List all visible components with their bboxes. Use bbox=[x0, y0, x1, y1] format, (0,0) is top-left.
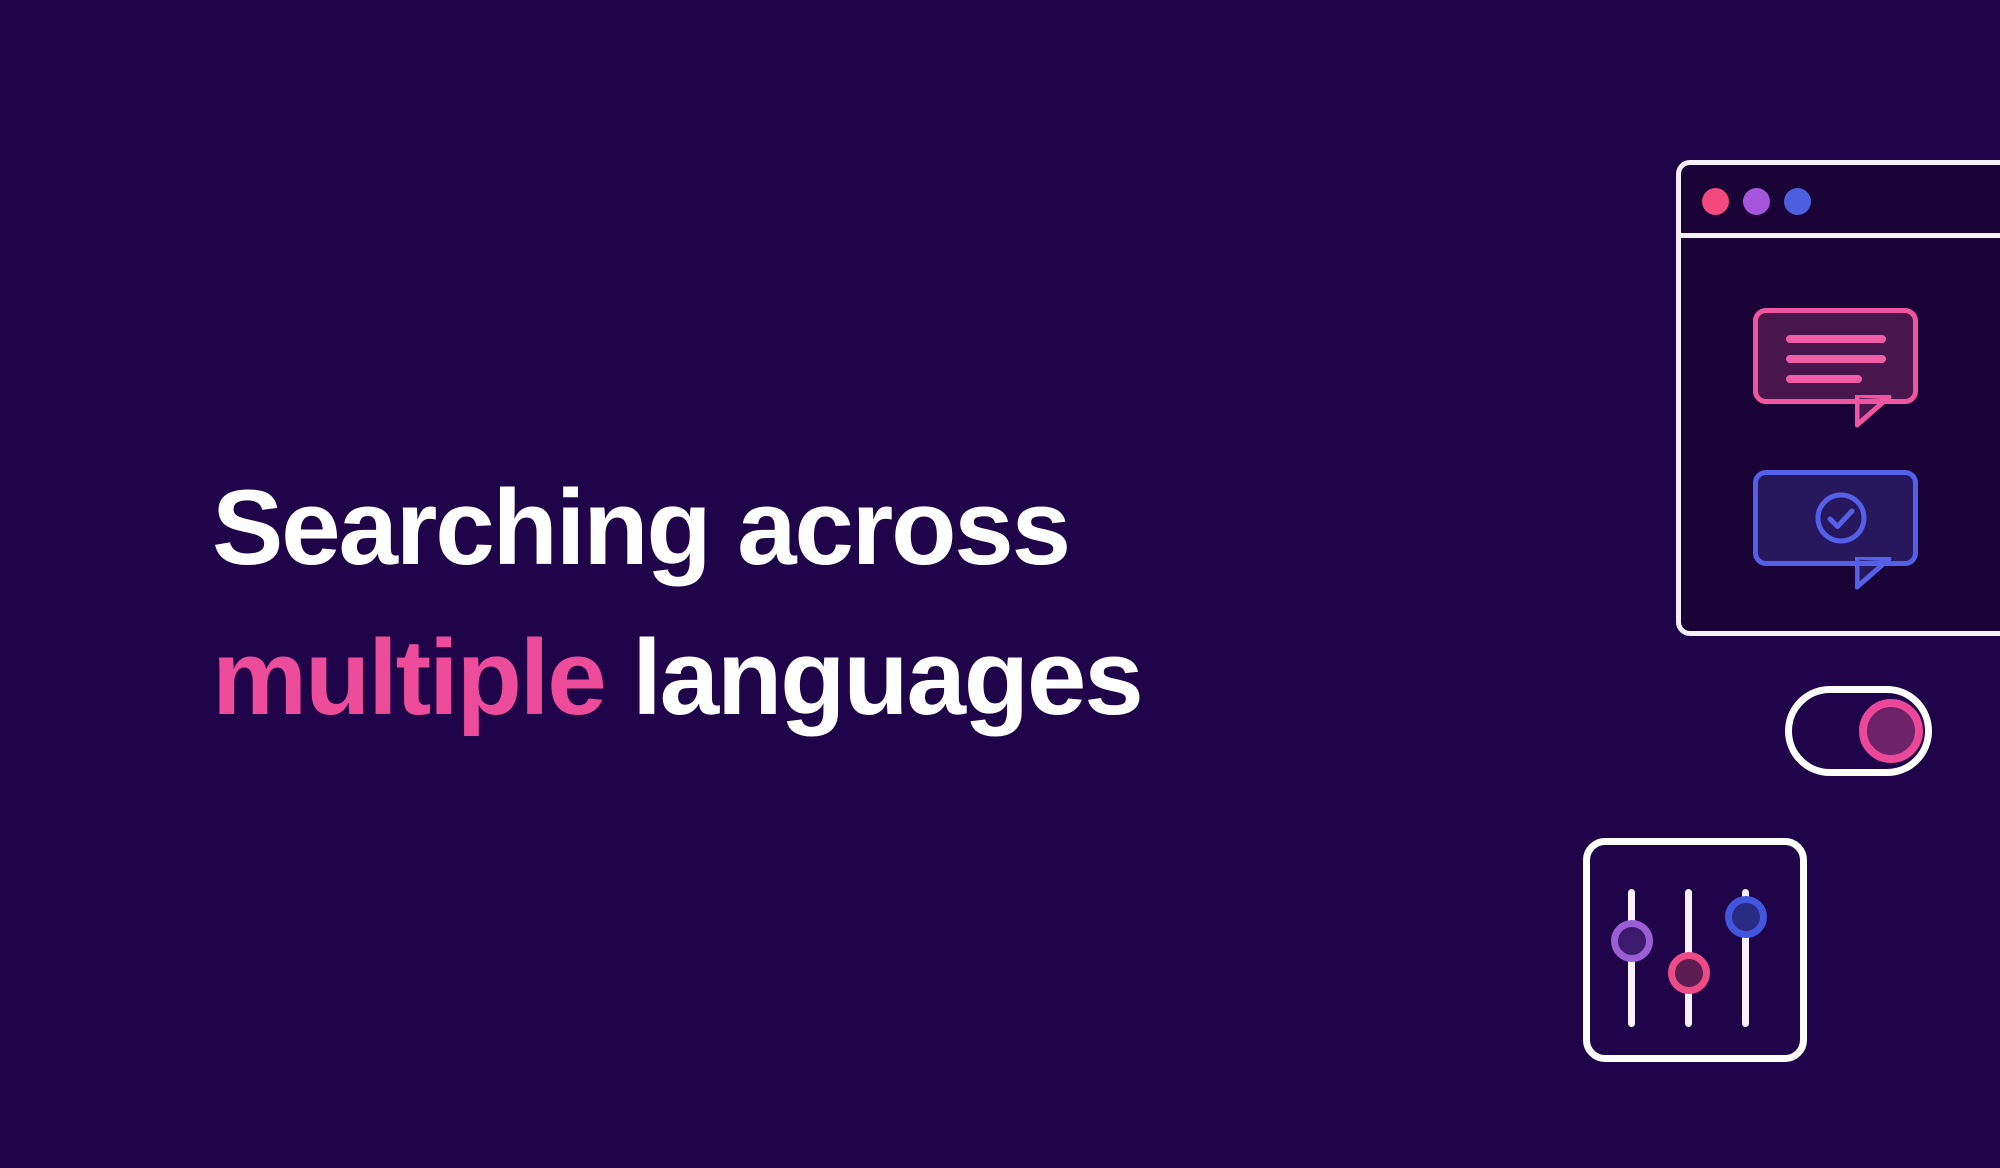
headline-line-1: Searching across bbox=[212, 452, 1332, 602]
toggle-switch[interactable] bbox=[1785, 686, 1932, 776]
close-dot-icon[interactable] bbox=[1702, 188, 1729, 215]
toggle-knob[interactable] bbox=[1859, 699, 1923, 763]
message-line-2 bbox=[1786, 355, 1886, 363]
slider-knob-2[interactable] bbox=[1668, 952, 1710, 994]
page-title: Searching across multiple languages bbox=[212, 452, 1332, 752]
slider-knob-1[interactable] bbox=[1611, 920, 1653, 962]
confirmation-bubble-tail bbox=[1855, 557, 1895, 591]
browser-titlebar bbox=[1681, 165, 2000, 238]
slider-knob-3[interactable] bbox=[1725, 896, 1767, 938]
headline-line-2-rest: languages bbox=[605, 617, 1142, 737]
message-line-1 bbox=[1786, 335, 1886, 343]
check-circle-icon bbox=[1814, 491, 1868, 545]
browser-content bbox=[1681, 238, 2000, 631]
minimize-dot-icon[interactable] bbox=[1743, 188, 1770, 215]
message-bubble-tail bbox=[1855, 395, 1895, 429]
sliders-panel bbox=[1583, 838, 1807, 1062]
message-line-3 bbox=[1786, 375, 1862, 383]
confirmation-bubble bbox=[1753, 470, 1918, 566]
maximize-dot-icon[interactable] bbox=[1784, 188, 1811, 215]
message-bubble bbox=[1753, 308, 1918, 404]
hero-banner: Searching across multiple languages bbox=[0, 0, 2000, 1168]
headline-line-2: multiple languages bbox=[212, 602, 1332, 752]
headline-accent-word: multiple bbox=[212, 617, 605, 737]
browser-window bbox=[1676, 160, 2000, 636]
